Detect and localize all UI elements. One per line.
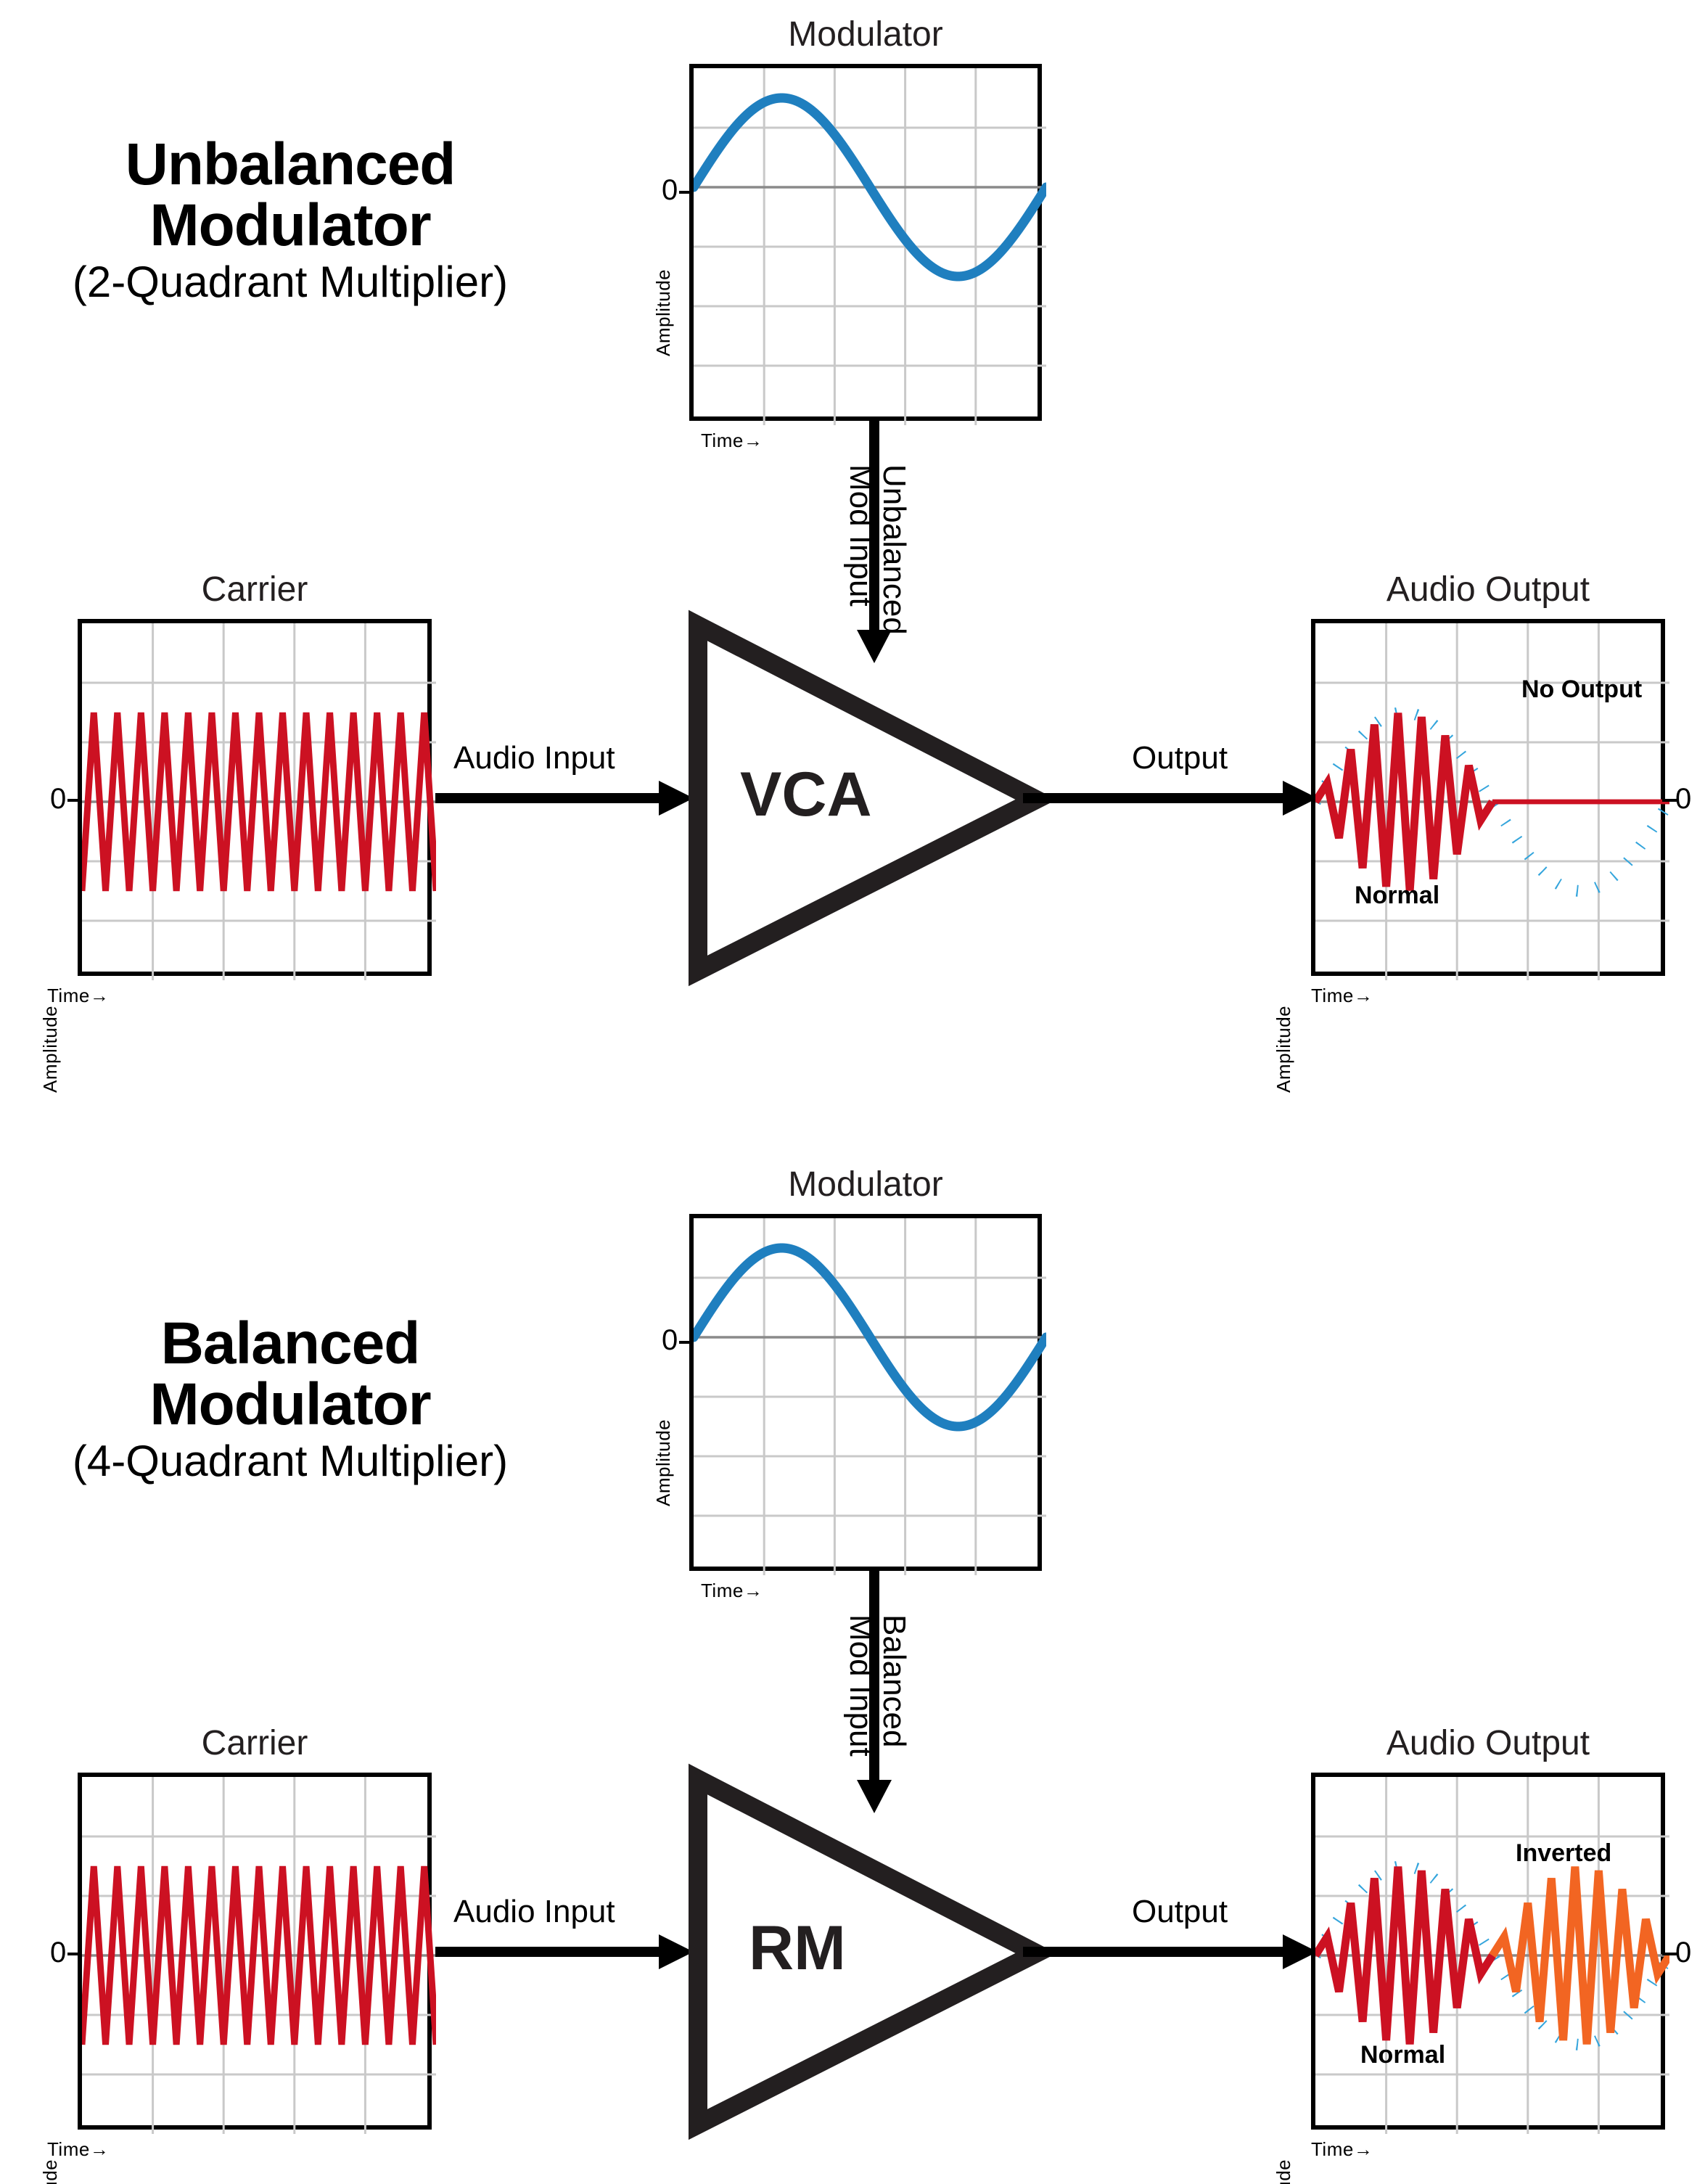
modulator-zero-tick-balanced (679, 1341, 692, 1344)
audio-output-zero-label-balanced: 0 (1675, 1938, 1691, 1967)
modulator-x-axis-label-balanced: Time→ (701, 1580, 763, 1602)
modulator-graph-title-balanced: Modulator (689, 1165, 1042, 1204)
audio-output-panel-balanced: Audio Output Inverted Normal 0 Amplitude… (1311, 1723, 1665, 2130)
audio-output-x-axis-label: Time→ (1311, 985, 1373, 1007)
audio-output-note-inverted: Inverted (1516, 1839, 1611, 1868)
mod-input-label-line-2-balanced: Mod Input (844, 1614, 877, 1757)
carrier-y-axis-label-balanced: Amplitude (39, 2159, 62, 2184)
carrier-zero-tick-balanced (67, 1953, 81, 1955)
carrier-zero-tick (67, 799, 81, 802)
modulator-x-axis-arrow-icon-balanced: → (744, 1580, 763, 1601)
audio-output-x-axis-text: Time (1311, 985, 1354, 1006)
modulator-x-axis-arrow-icon: → (744, 430, 763, 451)
carrier-graph-title-balanced: Carrier (78, 1723, 432, 1763)
audio-output-note-no-output: No Output (1521, 676, 1642, 704)
section-subtitle: (2-Quadrant Multiplier) (36, 260, 544, 304)
audio-output-x-axis-arrow-icon-balanced: → (1354, 2138, 1373, 2160)
section-title-line-1-balanced: Balanced (36, 1313, 544, 1374)
audio-input-arrow-unbalanced (435, 776, 697, 820)
modulator-x-axis-text: Time (701, 430, 744, 451)
section-title-unbalanced: Unbalanced Modulator (2-Quadrant Multipl… (36, 134, 544, 304)
modulator-graph-box-balanced (689, 1214, 1042, 1571)
audio-output-x-axis-text-balanced: Time (1311, 2138, 1354, 2160)
audio-output-zero-tick (1662, 799, 1677, 802)
modulator-zero-label: 0 (662, 176, 678, 205)
audio-output-graph-title-balanced: Audio Output (1311, 1723, 1665, 1763)
modulator-chart-svg-balanced (694, 1218, 1046, 1575)
carrier-graph-title: Carrier (78, 570, 432, 609)
modulator-graph-box (689, 64, 1042, 421)
output-arrow-unbalanced (1023, 776, 1320, 820)
audio-output-zero-tick-balanced (1662, 1953, 1677, 1955)
section-title-line-2-balanced: Modulator (36, 1374, 544, 1435)
audio-input-label-balanced: Audio Input (453, 1894, 615, 1930)
carrier-x-axis-text: Time (47, 985, 90, 1006)
carrier-panel-unbalanced: Carrier 0 Amplitude Time→ (78, 570, 432, 976)
audio-output-chart-svg-balanced (1315, 1777, 1669, 2134)
mod-input-label-line-1-balanced: Balanced (876, 1614, 912, 1747)
carrier-zero-label-balanced: 0 (50, 1938, 66, 1967)
section-title-balanced: Balanced Modulator (4-Quadrant Multiplie… (36, 1313, 544, 1483)
section-subtitle-balanced: (4-Quadrant Multiplier) (36, 1439, 544, 1483)
output-arrow-balanced (1023, 1930, 1320, 1974)
audio-output-note-normal-balanced: Normal (1360, 2041, 1445, 2069)
audio-output-graph-title: Audio Output (1311, 570, 1665, 609)
carrier-chart-svg-balanced (82, 1777, 436, 2134)
audio-output-x-axis-label-balanced: Time→ (1311, 2138, 1373, 2161)
carrier-x-axis-label-balanced: Time→ (47, 2138, 109, 2161)
modulator-y-axis-label: Amplitude (652, 269, 675, 356)
audio-input-arrow-balanced (435, 1930, 697, 1974)
modulator-panel-balanced: Modulator 0 Amplitude Time→ (689, 1165, 1042, 1571)
rm-block-label: RM (749, 1913, 846, 1984)
audio-input-label-unbalanced: Audio Input (453, 740, 615, 776)
audio-output-y-axis-label-balanced: Amplitude (1273, 2159, 1295, 2184)
modulator-y-axis-label-balanced: Amplitude (652, 1419, 675, 1506)
audio-output-panel-unbalanced: Audio Output No Output Normal 0 Amplitud… (1311, 570, 1665, 976)
modulator-x-axis-label: Time→ (701, 430, 763, 452)
audio-output-note-normal: Normal (1355, 882, 1439, 910)
modulator-graph-title: Modulator (689, 15, 1042, 54)
carrier-graph-box (78, 619, 432, 976)
section-title-line-2: Modulator (36, 195, 544, 256)
modulator-zero-label-balanced: 0 (662, 1326, 678, 1355)
diagram-canvas: Unbalanced Modulator (2-Quadrant Multipl… (0, 0, 1705, 2184)
modulator-panel-unbalanced: Modulator 0 Amplitude Time→ (689, 15, 1042, 421)
vca-block-label: VCA (740, 759, 872, 831)
modulator-zero-tick (679, 191, 692, 194)
carrier-zero-label: 0 (50, 784, 66, 813)
output-label-unbalanced: Output (1132, 740, 1228, 776)
carrier-x-axis-arrow-icon: → (90, 985, 110, 1006)
carrier-y-axis-label: Amplitude (39, 1006, 62, 1093)
modulator-x-axis-text-balanced: Time (701, 1580, 744, 1601)
carrier-chart-svg (82, 623, 436, 980)
rm-block-balanced (682, 1763, 1052, 2140)
modulator-chart-svg (694, 68, 1046, 425)
carrier-x-axis-label: Time→ (47, 985, 109, 1007)
carrier-panel-balanced: Carrier 0 Amplitude Time→ (78, 1723, 432, 2130)
section-title-line-1: Unbalanced (36, 134, 544, 195)
audio-output-graph-box-balanced (1311, 1773, 1665, 2130)
mod-input-label-balanced: Balanced Mod Input (844, 1614, 911, 1757)
audio-output-x-axis-arrow-icon: → (1354, 985, 1373, 1006)
output-label-balanced: Output (1132, 1894, 1228, 1930)
carrier-x-axis-text-balanced: Time (47, 2138, 90, 2160)
carrier-graph-box-balanced (78, 1773, 432, 2130)
carrier-x-axis-arrow-icon-balanced: → (90, 2138, 110, 2160)
audio-output-zero-label: 0 (1675, 784, 1691, 813)
audio-output-y-axis-label: Amplitude (1273, 1006, 1295, 1093)
audio-output-graph-box (1311, 619, 1665, 976)
